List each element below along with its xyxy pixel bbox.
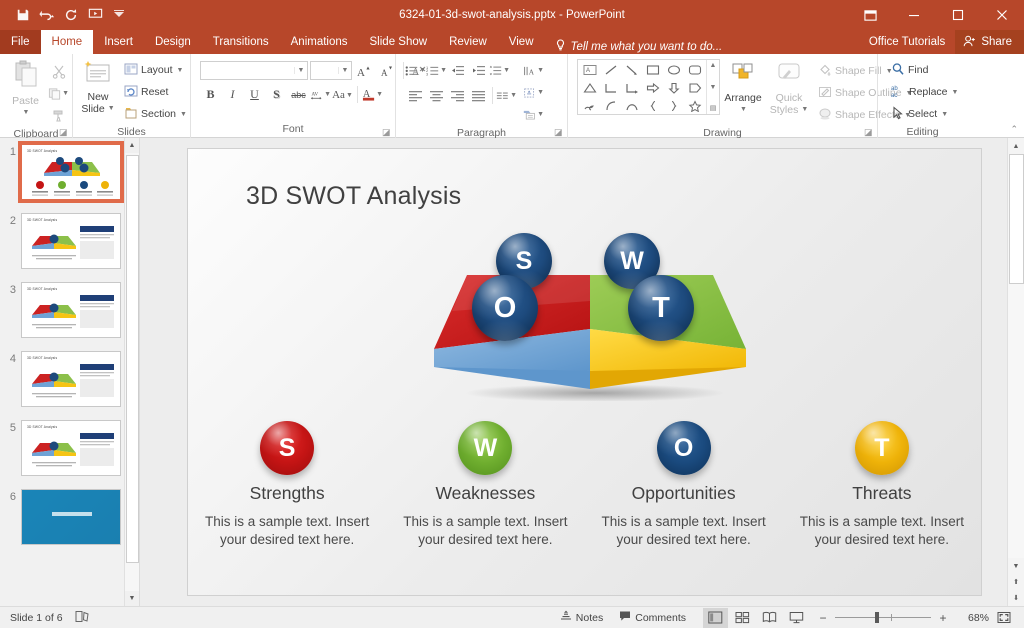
collapse-ribbon-icon[interactable]: ⌃ — [1010, 124, 1018, 135]
font-name-combo[interactable]: ▼ — [200, 61, 308, 80]
font-name-arrow[interactable]: ▼ — [294, 67, 307, 74]
thumbnail-number: 6 — [4, 489, 21, 503]
swot-item-title: Threats — [852, 483, 911, 504]
increase-font-size-icon[interactable]: A — [354, 60, 375, 81]
format-painter-icon[interactable] — [48, 105, 69, 126]
change-case-arrow[interactable]: ▼ — [346, 91, 353, 99]
status-right: Notes Comments − — [553, 608, 1024, 628]
zoom-controls: − + — [811, 611, 955, 625]
new-slide-label-2: Slide — [81, 103, 104, 115]
save-icon[interactable] — [12, 4, 34, 26]
thumbnail-scroll-thumb[interactable] — [126, 155, 139, 563]
shape-fill-icon — [818, 63, 832, 80]
tab-transitions[interactable]: Transitions — [202, 30, 280, 54]
shape-effects-icon — [818, 107, 832, 124]
ribbon-group-clipboard: Paste ▼ ▼ Clipboard ◪ — [0, 54, 72, 138]
replace-arrow[interactable]: ▼ — [952, 89, 959, 96]
new-slide-icon — [83, 60, 113, 91]
reset-icon — [124, 84, 138, 101]
zoom-out-button[interactable]: − — [817, 611, 829, 625]
share-label: Share — [981, 36, 1012, 48]
share-button[interactable]: Share — [955, 30, 1024, 54]
text-direction-button[interactable]: A ▼ — [523, 60, 544, 81]
section-label: Section — [141, 108, 176, 120]
thumbnail-row: 13D SWOT Analysis — [0, 144, 139, 200]
gallery-more-icon[interactable]: ▤ — [710, 104, 717, 113]
thumbnail-row: 33D SWOT Analysis — [0, 282, 139, 338]
font-color-button[interactable]: A ▼ — [362, 84, 383, 105]
paragraph-separator — [492, 87, 493, 104]
swot-item-title: Opportunities — [632, 483, 736, 504]
select-button[interactable]: Select ▼ — [887, 104, 962, 124]
svg-text:A: A — [586, 68, 590, 74]
platform-ball-w-letter: W — [620, 247, 644, 276]
layout-icon — [124, 62, 138, 79]
svg-text:ac: ac — [891, 93, 897, 98]
shape-pentagon-arrow-icon[interactable] — [684, 79, 705, 97]
reset-button[interactable]: Reset — [120, 82, 191, 102]
search-icon — [891, 62, 905, 79]
line-spacing-arrow[interactable]: ▼ — [503, 67, 510, 74]
replace-label: Replace — [909, 86, 948, 98]
quick-styles-icon — [774, 61, 804, 92]
italic-button[interactable]: I — [222, 84, 243, 105]
decrease-indent-button[interactable] — [447, 60, 468, 81]
character-spacing-arrow[interactable]: ▼ — [324, 91, 331, 98]
shapes-grid: A — [578, 60, 706, 114]
cursor-icon — [891, 106, 905, 123]
shape-right-brace-icon[interactable] — [663, 97, 684, 115]
svg-text:3: 3 — [426, 72, 428, 77]
notes-icon — [560, 610, 572, 625]
tab-file[interactable]: File — [0, 30, 41, 54]
align-right-button[interactable] — [447, 85, 468, 106]
swot-ball-o: O — [657, 421, 711, 475]
arrange-icon — [728, 61, 758, 92]
thumbnail-number: 3 — [4, 282, 21, 296]
justify-button[interactable] — [468, 85, 489, 106]
slide-editing-pane: 3D SWOT Analysis — [145, 138, 1024, 606]
slide-thumbnail-pane: 13D SWOT Analysis23D SWOT Analysis33D SW… — [0, 138, 140, 606]
clipboard-dialog-launcher[interactable]: ◪ — [59, 127, 69, 137]
tab-slide-show[interactable]: Slide Show — [359, 30, 439, 54]
arrange-dropdown-arrow[interactable]: ▼ — [740, 104, 747, 116]
quick-styles-button[interactable]: Quick Styles ▼ — [766, 59, 812, 118]
start-slideshow-icon[interactable] — [84, 4, 106, 26]
swot-item-body: This is a sample text. Insert your desir… — [797, 513, 967, 549]
swot-3d-platform[interactable]: S W O T — [410, 241, 770, 401]
quick-access-toolbar — [0, 4, 130, 26]
tab-design[interactable]: Design — [144, 30, 202, 54]
paste-label: Paste — [12, 95, 39, 107]
text-shadow-button[interactable]: S — [266, 84, 287, 105]
shape-triangle-icon[interactable] — [579, 79, 600, 97]
new-slide-dropdown-arrow[interactable]: ▼ — [108, 103, 115, 115]
shape-oval-icon[interactable] — [663, 61, 684, 79]
platform-ball-t-letter: T — [652, 292, 670, 325]
numbering-button[interactable]: 123 ▼ — [426, 60, 447, 81]
gallery-scroll-up-icon[interactable]: ▲ — [710, 61, 717, 70]
shape-rounded-rectangle-icon[interactable] — [684, 61, 705, 79]
swot-item-body: This is a sample text. Insert your desir… — [400, 513, 570, 549]
shape-arrow-line-icon[interactable] — [621, 61, 642, 79]
thumbnail-row: 53D SWOT Analysis — [0, 420, 139, 476]
select-label: Select — [908, 108, 937, 120]
thumbnail-number: 1 — [4, 144, 21, 158]
numbering-arrow[interactable]: ▼ — [440, 67, 447, 74]
font-separator-2 — [357, 86, 358, 103]
thumbnail-row: 23D SWOT Analysis — [0, 213, 139, 269]
tab-review[interactable]: Review — [438, 30, 498, 54]
thumbnail-scrollbar[interactable]: ▲ ▼ — [124, 138, 139, 606]
tab-view[interactable]: View — [498, 30, 545, 54]
reset-label: Reset — [141, 86, 168, 98]
swot-items: SStrengthsThis is a sample text. Insert … — [188, 421, 981, 549]
notes-button[interactable]: Notes — [553, 608, 610, 628]
columns-arrow[interactable]: ▼ — [510, 92, 517, 99]
ribbon-group-drawing: A — [567, 54, 877, 138]
section-dropdown-arrow[interactable]: ▼ — [180, 111, 187, 118]
find-label: Find — [908, 64, 928, 76]
comment-icon — [619, 610, 631, 625]
ribbon-group-editing: Find abac Replace ▼ Select — [877, 54, 967, 138]
undo-icon[interactable] — [36, 4, 58, 26]
align-text-arrow[interactable]: ▼ — [537, 89, 544, 96]
bullets-button[interactable]: ▼ — [405, 60, 426, 81]
shape-freeform-icon[interactable] — [579, 97, 600, 115]
slide-scroll-track[interactable] — [1008, 154, 1024, 558]
ribbon-group-paragraph: ▼ 123 ▼ ▼ — [395, 54, 567, 138]
swot-item-threats[interactable]: TThreatsThis is a sample text. Insert yo… — [783, 421, 981, 549]
previous-slide-double-icon[interactable]: ⬆ — [1008, 574, 1024, 590]
tab-insert[interactable]: Insert — [93, 30, 144, 54]
shape-star-icon[interactable] — [684, 97, 705, 115]
quick-styles-label-2: Styles — [770, 104, 799, 116]
platform-ball-o[interactable]: O — [472, 275, 538, 341]
swot-item-weaknesses[interactable]: WWeaknessesThis is a sample text. Insert… — [386, 421, 584, 549]
swot-ball-t: T — [855, 421, 909, 475]
copy-dropdown-arrow[interactable]: ▼ — [62, 90, 69, 97]
font-dialog-launcher[interactable]: ◪ — [382, 127, 392, 137]
thumbnail-list: 13D SWOT Analysis23D SWOT Analysis33D SW… — [0, 138, 139, 606]
slide-scroll-thumb[interactable] — [1009, 154, 1024, 284]
shape-arc-icon[interactable] — [600, 97, 621, 115]
slide-scroll-up-icon[interactable]: ▲ — [1008, 138, 1024, 154]
shapes-gallery-scroll[interactable]: ▲ ▼ ▤ — [706, 60, 719, 114]
change-case-button[interactable]: Aa ▼ — [332, 84, 353, 105]
slide-thumbnail-3[interactable]: 3D SWOT Analysis — [21, 282, 121, 338]
shape-elbow-arrow-connector-icon[interactable] — [621, 79, 642, 97]
comments-button[interactable]: Comments — [612, 608, 693, 628]
slide-thumbnail-6[interactable] — [21, 489, 121, 545]
svg-text:ab: ab — [891, 86, 898, 92]
section-button[interactable]: Section ▼ — [120, 104, 191, 124]
layout-button[interactable]: Layout ▼ — [120, 60, 191, 80]
accessibility-checker-icon[interactable] — [75, 610, 90, 626]
svg-text:AV: AV — [311, 91, 318, 97]
svg-text:A: A — [529, 67, 535, 76]
status-bar: Slide 1 of 6 Notes Comments — [0, 606, 1024, 628]
swot-item-strengths[interactable]: SStrengthsThis is a sample text. Insert … — [188, 421, 386, 549]
replace-button[interactable]: abac Replace ▼ — [887, 82, 962, 102]
section-icon — [124, 106, 138, 123]
shape-rectangle-icon[interactable] — [642, 61, 663, 79]
title-bar: 6324-01-3d-swot-analysis.pptx - PowerPoi… — [0, 0, 1024, 30]
ribbon-group-font: ▼ ▼ A A A — [190, 54, 395, 138]
arrange-button[interactable]: Arrange ▼ — [720, 59, 766, 118]
zoom-in-button[interactable]: + — [937, 611, 949, 625]
find-button[interactable]: Find — [887, 60, 962, 80]
status-left: Slide 1 of 6 — [0, 610, 90, 626]
normal-view-button[interactable] — [703, 608, 728, 628]
shape-textbox-icon[interactable]: A — [579, 61, 600, 79]
swot-ball-w: W — [458, 421, 512, 475]
fit-to-window-button[interactable] — [991, 608, 1016, 628]
close-icon[interactable] — [980, 0, 1024, 30]
align-left-button[interactable] — [405, 85, 426, 106]
copy-icon[interactable]: ▼ — [48, 83, 69, 104]
tell-me-label: Tell me what you want to do... — [571, 41, 723, 53]
thumbnail-number: 2 — [4, 213, 21, 227]
layout-label: Layout — [141, 64, 173, 76]
next-slide-double-icon[interactable]: ⬇ — [1008, 590, 1024, 606]
convert-to-smartart-button[interactable]: ▼ — [523, 104, 544, 125]
redo-icon[interactable] — [60, 4, 82, 26]
bullets-arrow[interactable]: ▼ — [419, 67, 426, 74]
platform-ball-t[interactable]: T — [628, 275, 694, 341]
slide-thumbnail-4[interactable]: 3D SWOT Analysis — [21, 351, 121, 407]
thumbnail-scroll-track[interactable] — [125, 153, 140, 591]
replace-icon: abac — [891, 84, 906, 101]
shape-left-brace-icon[interactable] — [642, 97, 663, 115]
slide-sorter-view-button[interactable] — [730, 608, 755, 628]
zoom-slider-track[interactable] — [835, 617, 931, 618]
slide-thumbnail-5[interactable]: 3D SWOT Analysis — [21, 420, 121, 476]
align-text-button[interactable]: ▼ — [523, 82, 544, 103]
workspace: 13D SWOT Analysis23D SWOT Analysis33D SW… — [0, 138, 1024, 606]
powerpoint-window: 6324-01-3d-swot-analysis.pptx - PowerPoi… — [0, 0, 1024, 628]
thumbnail-row: 43D SWOT Analysis — [0, 351, 139, 407]
layout-dropdown-arrow[interactable]: ▼ — [177, 67, 184, 74]
paste-dropdown-arrow[interactable]: ▼ — [23, 107, 30, 119]
font-size-combo[interactable]: ▼ — [310, 61, 352, 80]
slide-indicator[interactable]: Slide 1 of 6 — [10, 612, 63, 624]
notes-label: Notes — [576, 612, 603, 624]
shape-curve-icon[interactable] — [621, 97, 642, 115]
slide-title[interactable]: 3D SWOT Analysis — [246, 182, 461, 211]
slide-thumbnail-1[interactable]: 3D SWOT Analysis — [21, 144, 121, 200]
thumbnail-scroll-up-icon[interactable]: ▲ — [125, 138, 140, 153]
shape-elbow-connector-icon[interactable] — [600, 79, 621, 97]
swot-item-opportunities[interactable]: OOpportunitiesThis is a sample text. Ins… — [585, 421, 783, 549]
office-tutorials-link[interactable]: Office Tutorials — [859, 36, 956, 48]
paragraph-dialog-launcher[interactable]: ◪ — [554, 127, 564, 137]
tab-home[interactable]: Home — [41, 30, 94, 54]
columns-button[interactable]: ▼ — [496, 85, 517, 106]
bold-button[interactable]: B — [200, 84, 221, 105]
platform-ball-o-letter: O — [494, 292, 517, 325]
svg-text:A: A — [357, 67, 365, 78]
thumbnail-number: 5 — [4, 420, 21, 434]
shape-line-icon[interactable] — [600, 61, 621, 79]
drawing-dialog-launcher[interactable]: ◪ — [864, 127, 874, 137]
underline-button[interactable]: U — [244, 84, 265, 105]
zoom-level-label[interactable]: 68% — [957, 612, 989, 624]
slide-scrollbar[interactable]: ▲ ▼ ⬆ ⬇ — [1007, 138, 1024, 606]
swot-item-title: Weaknesses — [435, 483, 535, 504]
shape-fill-label: Shape Fill — [835, 65, 882, 77]
tell-me-box[interactable]: Tell me what you want to do... — [545, 39, 733, 54]
swot-item-body: This is a sample text. Insert your desir… — [599, 513, 769, 549]
ribbon: Paste ▼ ▼ Clipboard ◪ — [0, 54, 1024, 138]
font-size-arrow[interactable]: ▼ — [338, 67, 351, 74]
convert-smartart-arrow[interactable]: ▼ — [537, 111, 544, 118]
tab-animations[interactable]: Animations — [280, 30, 359, 54]
new-slide-button[interactable]: New Slide ▼ — [76, 58, 120, 117]
select-arrow[interactable]: ▼ — [941, 111, 948, 118]
quick-styles-label-1: Quick — [776, 92, 803, 104]
customize-qat-icon[interactable] — [108, 4, 130, 26]
previous-slide-icon[interactable]: ▼ — [1008, 558, 1024, 574]
font-color-arrow[interactable]: ▼ — [376, 91, 383, 98]
new-slide-label-1: New — [87, 91, 108, 103]
maximize-icon[interactable] — [936, 0, 980, 30]
font-group-label: Font — [194, 121, 392, 138]
shapes-gallery[interactable]: A — [577, 59, 720, 115]
arrange-label: Arrange — [724, 92, 761, 104]
minimize-icon[interactable] — [892, 0, 936, 30]
paste-button[interactable]: Paste ▼ — [3, 58, 48, 121]
window-controls — [848, 0, 1024, 30]
comments-label: Comments — [635, 612, 686, 624]
thumbnail-scroll-down-icon[interactable]: ▼ — [125, 591, 140, 606]
ribbon-group-slides: New Slide ▼ Layout ▼ — [72, 54, 190, 138]
thumbnail-number: 4 — [4, 351, 21, 365]
share-person-icon — [963, 35, 976, 50]
zoom-slider-midpoint — [891, 614, 892, 621]
shape-right-arrow-icon[interactable] — [642, 79, 663, 97]
swot-item-body: This is a sample text. Insert your desir… — [202, 513, 372, 549]
swot-ball-s: S — [260, 421, 314, 475]
increase-indent-button[interactable] — [468, 60, 489, 81]
platform-ball-s-letter: S — [516, 247, 533, 276]
quick-styles-arrow[interactable]: ▼ — [801, 104, 808, 116]
strikethrough-button[interactable]: abc — [288, 84, 309, 105]
text-direction-arrow[interactable]: ▼ — [537, 67, 544, 74]
ribbon-tabs: File Home Insert Design Transitions Anim… — [0, 30, 1024, 54]
slide-canvas[interactable]: 3D SWOT Analysis — [187, 148, 982, 596]
thumbnail-row: 6 — [0, 489, 139, 545]
line-spacing-button[interactable]: ▼ — [489, 60, 510, 81]
gallery-scroll-down-icon[interactable]: ▼ — [710, 83, 717, 92]
cut-icon[interactable] — [48, 61, 69, 82]
slide-thumbnail-2[interactable]: 3D SWOT Analysis — [21, 213, 121, 269]
reading-view-button[interactable] — [757, 608, 782, 628]
swot-item-title: Strengths — [250, 483, 325, 504]
zoom-slider-knob[interactable] — [875, 612, 879, 623]
paste-icon — [11, 60, 41, 95]
ribbon-display-options-icon[interactable] — [848, 0, 892, 30]
align-center-button[interactable] — [426, 85, 447, 106]
shape-outline-icon — [818, 85, 832, 102]
shape-down-arrow-icon[interactable] — [663, 79, 684, 97]
character-spacing-button[interactable]: AV ▼ — [310, 84, 331, 105]
tabbar-right: Office Tutorials Share — [859, 30, 1024, 54]
svg-text:A: A — [381, 68, 388, 78]
slide-show-button[interactable] — [784, 608, 809, 628]
lightbulb-icon — [555, 39, 566, 54]
